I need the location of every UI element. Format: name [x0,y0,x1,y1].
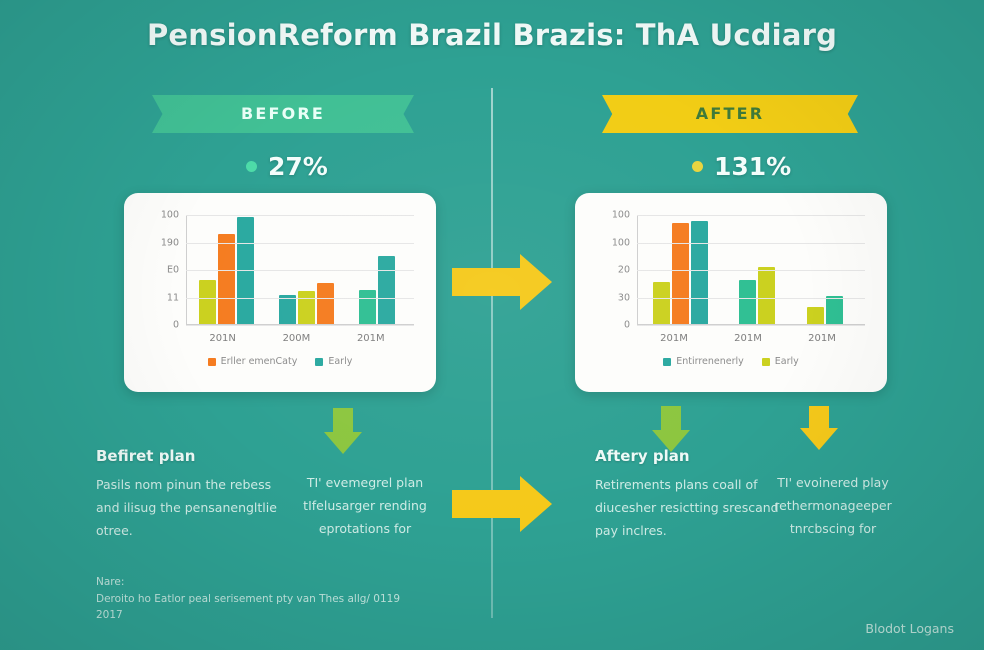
gridline [186,215,414,216]
gridline [186,270,414,271]
gridline [637,243,865,244]
bar [199,280,216,324]
bar [826,296,843,324]
gridline [637,298,865,299]
legend-before: Erller emenCatyEarly [124,356,436,367]
bar [653,282,670,324]
chart-card-after: 10010020300 201M201M201M EntirrenenerlyE… [575,193,887,392]
y-tick-label: 0 [624,320,630,331]
after-side-body: TI' evoinered play rethermonageeper tnrc… [748,471,918,540]
x-tick-label: 201M [660,333,688,344]
bar-group [359,256,395,324]
gridline [637,215,865,216]
x-tick-label: 201M [734,333,762,344]
bar [691,221,708,324]
bar-chart-before: 100190E0110 201N200M201M Erller emenCaty… [124,193,436,392]
before-plan-body: Pasils nom pinun the rebess and ilisug t… [96,473,291,542]
page-title: PensionReform Brazil Brazis: ThA Ucdiarg [0,18,984,52]
bar-chart-after: 10010020300 201M201M201M EntirrenenerlyE… [575,193,887,392]
bar [672,223,689,324]
legend-label: Erller emenCaty [221,356,298,367]
bar [317,283,334,324]
y-tick-label: 0 [173,320,179,331]
bar [739,280,756,324]
y-tick-label: 100 [612,238,630,249]
stat-after-value: 131% [714,152,791,181]
stat-before: 27% [246,152,328,181]
y-tick-label: 100 [161,210,179,221]
banner-before: BEFORE [152,95,414,133]
bar [218,234,235,324]
signature: Blodot Logans [865,621,954,636]
x-tick-labels-after: 201M201M201M [637,333,859,344]
bullet-dot-icon [246,161,257,172]
y-tick-label: 100 [612,210,630,221]
y-tick-label: 190 [161,238,179,249]
bar [378,256,395,324]
before-side-body: TI' evemegrel plan tIfelusarger rending … [275,471,455,540]
after-plan-heading: Aftery plan [595,447,690,465]
bar [279,295,296,324]
chart-card-before: 100190E0110 201N200M201M Erller emenCaty… [124,193,436,392]
x-tick-label: 201M [357,333,385,344]
bar-group [739,267,775,324]
banner-after: AFTER [602,95,858,133]
gridline [186,243,414,244]
bar [359,290,376,324]
y-tick-label: E0 [167,265,179,276]
legend-swatch [663,358,671,366]
infographic-canvas: PensionReform Brazil Brazis: ThA Ucdiarg… [0,0,984,650]
bar [758,267,775,324]
x-tick-labels-before: 201N200M201M [186,333,408,344]
legend-label: Early [328,356,352,367]
center-divider [491,88,493,618]
bullet-dot-icon [692,161,703,172]
bar-group [653,221,708,324]
y-tick-label: 11 [167,293,179,304]
plot-area-after: 10010020300 [637,215,859,325]
note-label: Nare: [96,576,124,588]
legend-item: Erller emenCaty [208,356,298,367]
gridline [186,298,414,299]
note-body: Deroito ho Eatlor peal serisement pty va… [96,592,426,624]
x-tick-label: 201N [209,333,236,344]
legend-after: EntirrenenerlyEarly [575,356,887,367]
bar [807,307,824,324]
legend-label: Early [775,356,799,367]
y-tick-label: 30 [618,293,630,304]
gridline [186,325,414,326]
legend-swatch [315,358,323,366]
gridline [637,270,865,271]
x-tick-label: 201M [808,333,836,344]
stat-before-value: 27% [268,152,328,181]
x-tick-label: 200M [283,333,311,344]
legend-label: Entirrenenerly [676,356,744,367]
legend-item: Early [762,356,799,367]
plot-area-before: 100190E0110 [186,215,408,325]
bar [298,291,315,324]
before-plan-heading: Befiret plan [96,447,195,465]
bar-group [807,296,843,324]
gridline [637,325,865,326]
legend-swatch [208,358,216,366]
bar-group [279,283,334,324]
legend-item: Entirrenenerly [663,356,744,367]
legend-item: Early [315,356,352,367]
y-tick-label: 20 [618,265,630,276]
stat-after: 131% [692,152,791,181]
legend-swatch [762,358,770,366]
